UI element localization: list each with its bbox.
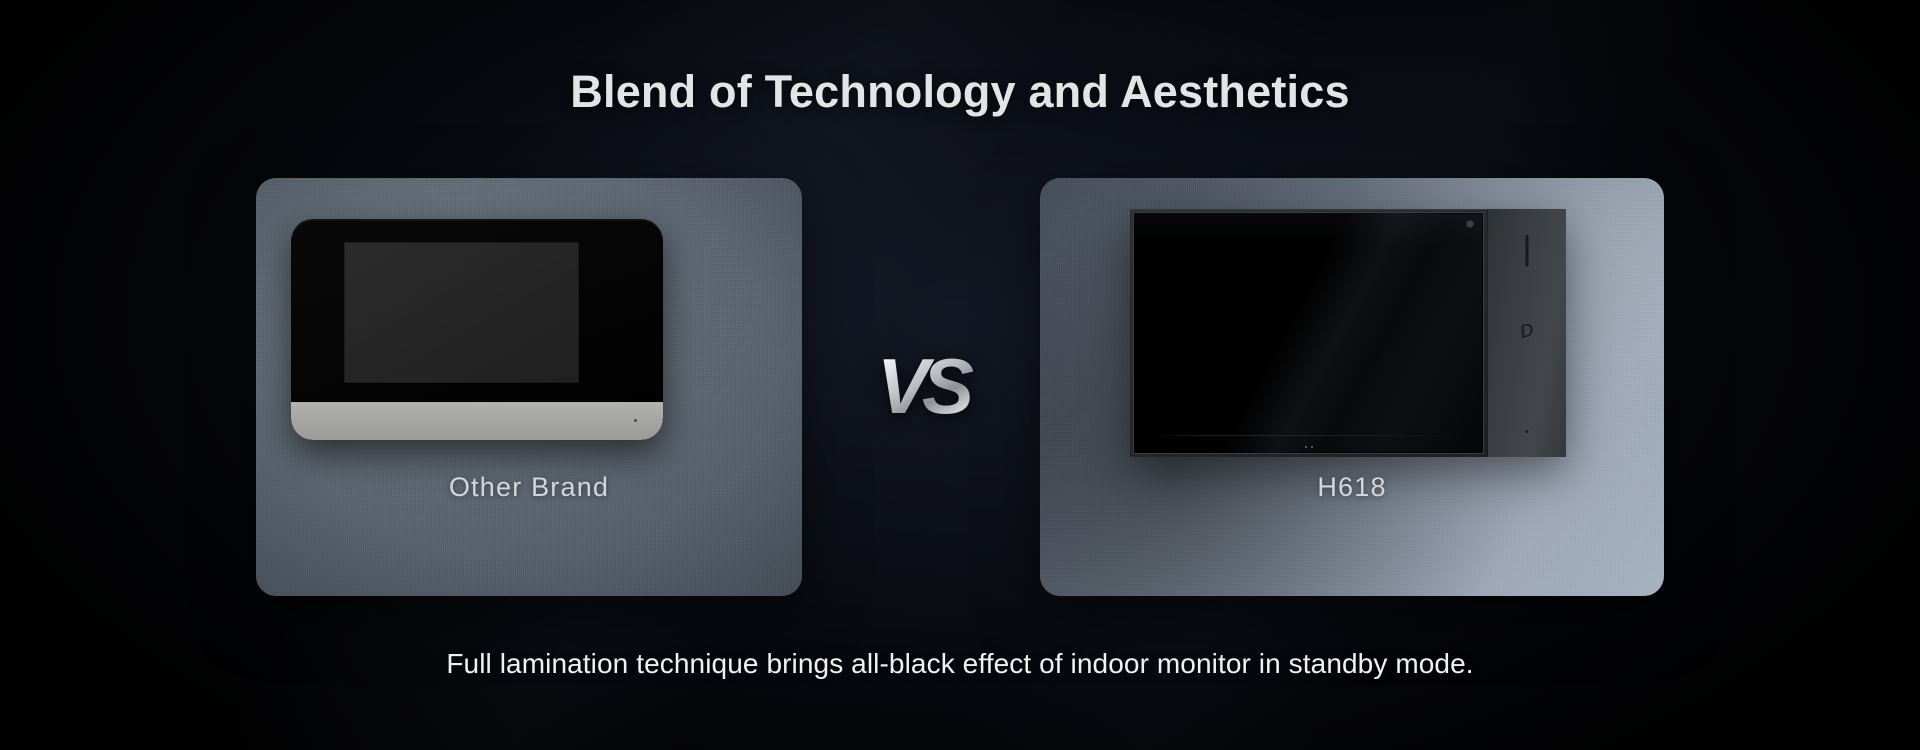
speaker-slot-icon	[1526, 235, 1529, 267]
comparison-panel-h618: D H618	[1040, 178, 1664, 596]
page-caption: Full lamination technique brings all-bla…	[0, 648, 1920, 680]
led-indicators	[1305, 446, 1313, 448]
comparison-panel-other-brand: Other Brand	[256, 178, 802, 596]
page-title: Blend of Technology and Aesthetics	[0, 66, 1920, 118]
device-bottom-chin	[291, 402, 663, 440]
device-screen-all-black	[1133, 212, 1484, 454]
panel-label-h618: H618	[1040, 472, 1664, 503]
indicator-dot-icon	[634, 419, 637, 422]
led-dot-icon	[1305, 446, 1307, 448]
screen-reflection	[1134, 213, 1483, 453]
versus-label: VS	[852, 340, 992, 432]
brand-logo-icon: D	[1518, 321, 1536, 343]
device-h618: D	[1130, 209, 1566, 457]
indicator-dot-icon	[1526, 430, 1529, 433]
device-side-strip: D	[1487, 209, 1566, 457]
versus-badge: VS	[852, 340, 992, 432]
screen-hairline	[1152, 435, 1465, 436]
camera-icon	[1467, 221, 1473, 227]
device-other-brand	[291, 219, 663, 440]
device-screen-visible-border	[345, 243, 578, 382]
led-dot-icon	[1311, 446, 1313, 448]
panel-label-other-brand: Other Brand	[256, 472, 802, 503]
product-comparison-banner: Blend of Technology and Aesthetics Other…	[0, 0, 1920, 750]
